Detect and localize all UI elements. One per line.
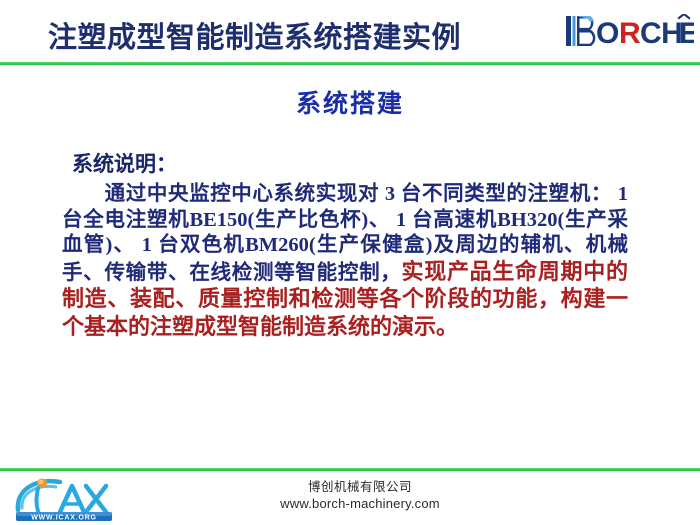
footer-text-block: 博创机械有限公司 www.borch-machinery.com xyxy=(150,479,570,512)
slide-footer: WWW.ICAX.ORG 博创机械有限公司 www.borch-machiner… xyxy=(0,471,700,525)
slide-subtitle: 系统搭建 xyxy=(0,84,700,120)
slide-header: 注塑成型智能制造系统搭建实例 O R CH E xyxy=(0,0,700,62)
body-paragraph: 通过中央监控中心系统实现对 3 台不同类型的注塑机： 1 台全电注塑机BE150… xyxy=(62,182,628,341)
header-divider xyxy=(0,62,700,65)
footer-website-url: www.borch-machinery.com xyxy=(150,495,570,512)
svg-text:CH: CH xyxy=(640,17,682,48)
borche-logo-graphic: O R CH E xyxy=(566,14,694,48)
svg-text:WWW.ICAX.ORG: WWW.ICAX.ORG xyxy=(31,514,97,521)
section-heading: 系统说明： xyxy=(72,148,177,178)
footer-company-name: 博创机械有限公司 xyxy=(150,479,570,495)
icax-logo: WWW.ICAX.ORG xyxy=(8,474,132,524)
svg-text:E: E xyxy=(679,17,694,48)
borche-logo: O R CH E xyxy=(566,14,694,48)
svg-text:R: R xyxy=(619,17,641,48)
icax-logo-graphic: WWW.ICAX.ORG xyxy=(8,474,132,524)
page-title: 注塑成型智能制造系统搭建实例 xyxy=(48,14,461,56)
svg-text:O: O xyxy=(596,17,619,48)
